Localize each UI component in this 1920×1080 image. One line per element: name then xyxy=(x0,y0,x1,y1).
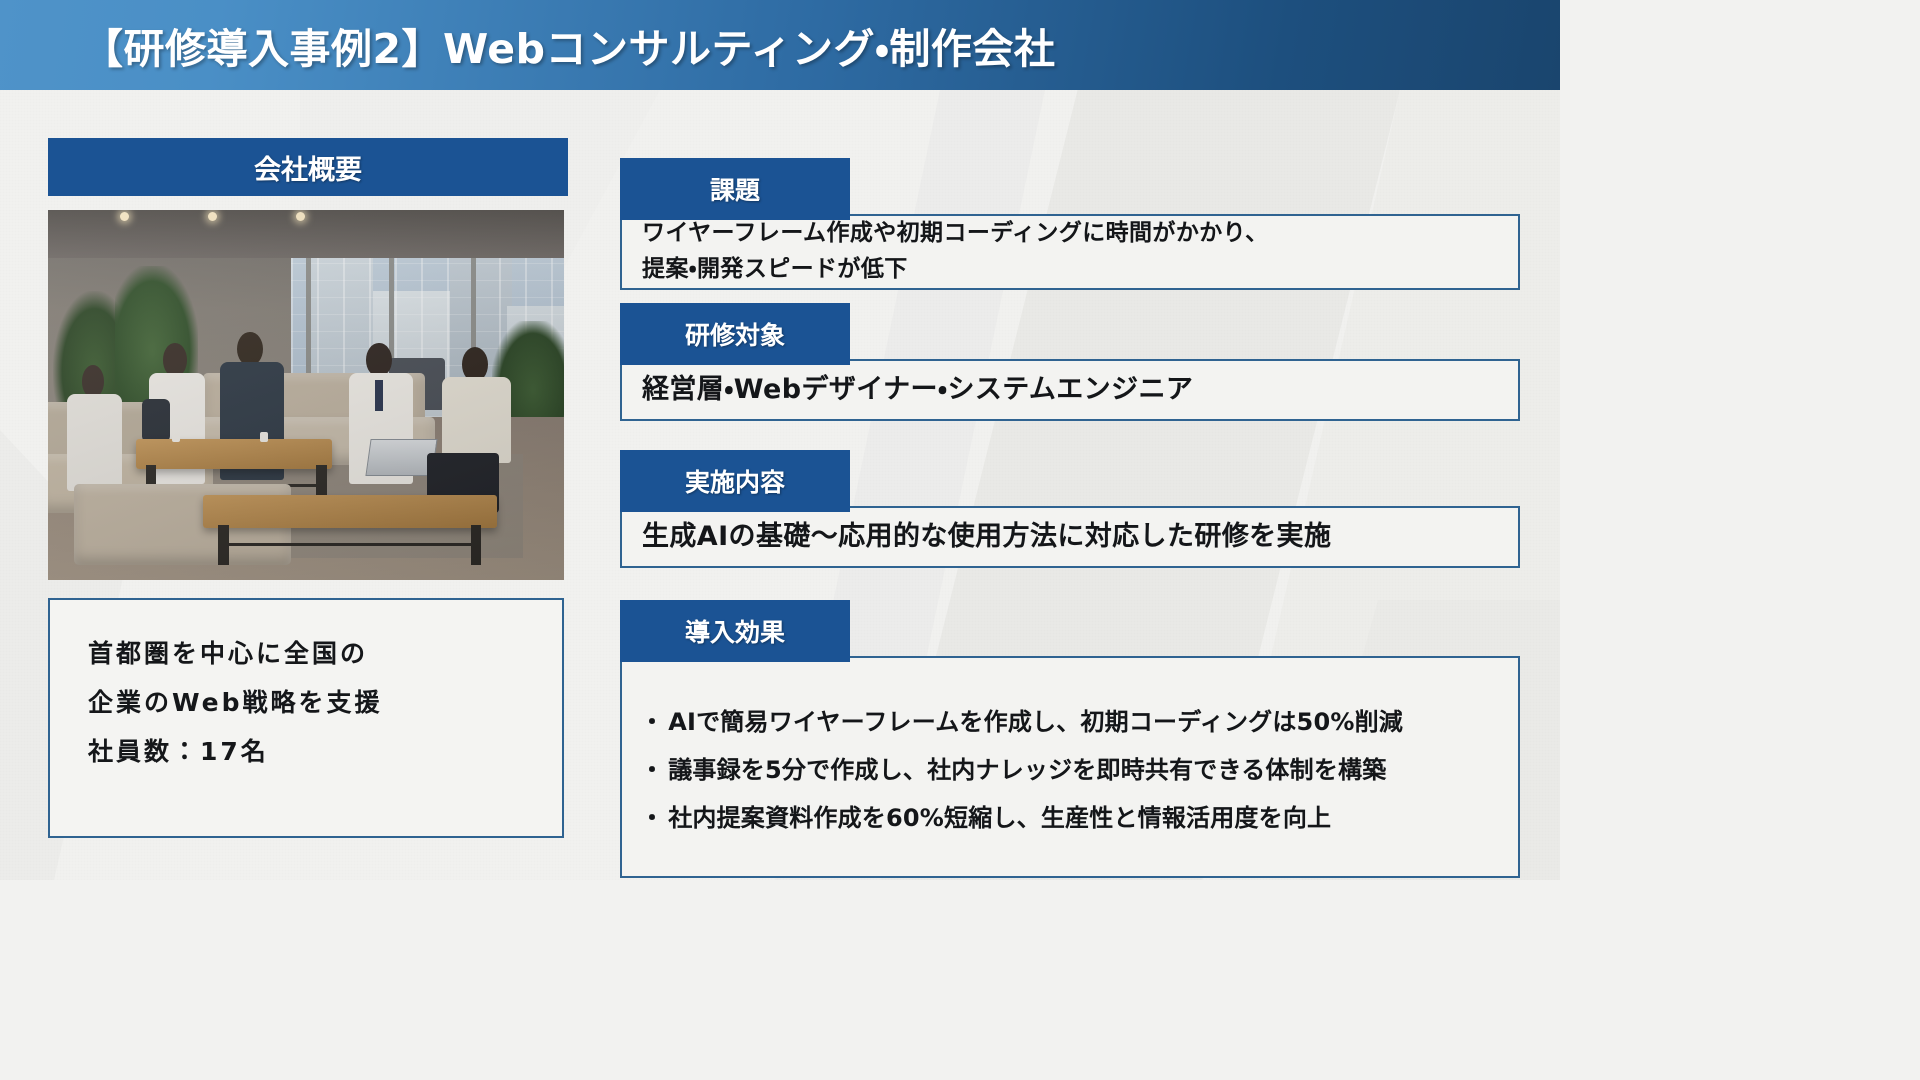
list-item: ・ 議事録を5分で作成し、社内ナレッジを即時共有できる体制を構築 xyxy=(640,750,1518,785)
effect-bullet-list: ・ AIで簡易ワイヤーフレームを作成し、初期コーディングは50%削減 ・ 議事録… xyxy=(622,689,1518,846)
office-photo-image xyxy=(48,210,564,580)
list-item: ・ 社内提案資料作成を60%短縮し、生産性と情報活用度を向上 xyxy=(640,798,1518,833)
bullet-marker-icon: ・ xyxy=(640,702,664,737)
effect-item-text: 社内提案資料作成を60%短縮し、生産性と情報活用度を向上 xyxy=(668,798,1331,833)
section-implementation-tab: 実施内容 xyxy=(620,450,850,512)
right-content-column: 課題 ワイヤーフレーム作成や初期コーディングに時間がかかり、 提案・開発スピード… xyxy=(620,0,1520,880)
company-description-line-1: 首都圏を中心に全国の xyxy=(88,630,528,679)
section-implementation-text: 生成AIの基礎〜応用的な使用方法に対応した研修を実施 xyxy=(622,516,1331,558)
company-overview-heading: 会社概要 xyxy=(48,138,568,196)
section-kadai-line-2: 提案・開発スピードが低下 xyxy=(642,252,1269,288)
company-description-box: 首都圏を中心に全国の 企業のWeb戦略を支援 社員数：17名 xyxy=(48,598,564,838)
photo-color-grade xyxy=(48,210,564,580)
company-description-text: 首都圏を中心に全国の 企業のWeb戦略を支援 社員数：17名 xyxy=(50,600,562,776)
page-title: 【研修導入事例2】Webコンサルティング・制作会社 xyxy=(82,15,1055,75)
section-effect-tab: 導入効果 xyxy=(620,600,850,662)
slide-header-bar: 【研修導入事例2】Webコンサルティング・制作会社 xyxy=(0,0,1560,90)
section-training-target-body: 経営層・Webデザイナー・システムエンジニア xyxy=(620,359,1520,421)
company-description-line-2: 企業のWeb戦略を支援 xyxy=(88,679,528,728)
section-implementation-body: 生成AIの基礎〜応用的な使用方法に対応した研修を実施 xyxy=(620,506,1520,568)
office-photo xyxy=(48,210,564,580)
section-kadai-body: ワイヤーフレーム作成や初期コーディングに時間がかかり、 提案・開発スピードが低下 xyxy=(620,214,1520,290)
effect-item-text: AIで簡易ワイヤーフレームを作成し、初期コーディングは50%削減 xyxy=(668,702,1403,737)
section-kadai-text: ワイヤーフレーム作成や初期コーディングに時間がかかり、 提案・開発スピードが低下 xyxy=(622,216,1269,287)
section-kadai-tab: 課題 xyxy=(620,158,850,220)
effect-item-text: 議事録を5分で作成し、社内ナレッジを即時共有できる体制を構築 xyxy=(668,750,1386,785)
section-effect-body: ・ AIで簡易ワイヤーフレームを作成し、初期コーディングは50%削減 ・ 議事録… xyxy=(620,656,1520,878)
bullet-marker-icon: ・ xyxy=(640,798,664,833)
bullet-marker-icon: ・ xyxy=(640,750,664,785)
section-kadai-line-1: ワイヤーフレーム作成や初期コーディングに時間がかかり、 xyxy=(642,216,1269,252)
section-training-target-tab: 研修対象 xyxy=(620,303,850,365)
list-item: ・ AIで簡易ワイヤーフレームを作成し、初期コーディングは50%削減 xyxy=(640,702,1518,737)
section-training-target-text: 経営層・Webデザイナー・システムエンジニア xyxy=(622,369,1193,411)
company-description-line-3: 社員数：17名 xyxy=(88,728,528,777)
slide-canvas: 【研修導入事例2】Webコンサルティング・制作会社 会社概要 xyxy=(0,0,1560,880)
